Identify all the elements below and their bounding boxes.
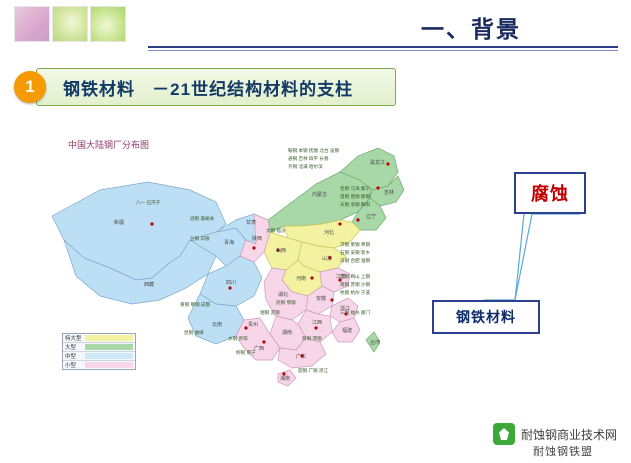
section-banner: 钢铁材料 －21世纪结构材料的支柱 1 (14, 68, 394, 106)
legend-label: 大型 (63, 343, 83, 351)
leaf-logo-icon (493, 423, 515, 445)
header-divider-secondary (148, 50, 618, 51)
banner-subtitle: －21世纪结构材料的支柱 (152, 80, 353, 99)
svg-text:陕西: 陕西 (252, 235, 262, 242)
svg-text:台湾: 台湾 (370, 339, 380, 346)
svg-text:兰钢 白银: 兰钢 白银 (190, 235, 210, 242)
svg-text:辽宁: 辽宁 (366, 213, 376, 220)
svg-text:西藏: 西藏 (144, 281, 154, 288)
legend-item: 特大型 (63, 334, 135, 343)
svg-text:广东: 广东 (296, 353, 306, 360)
china-steel-plant-map: 中国大陆钢厂分布图 (40, 128, 420, 408)
svg-text:山东: 山东 (322, 255, 332, 262)
banner-title: 钢铁材料 (63, 80, 135, 99)
svg-text:云南: 云南 (212, 321, 222, 328)
svg-text:包钢 乌海 集宁: 包钢 乌海 集宁 (340, 185, 371, 192)
footer-subtext: 耐蚀钢铁盟 (533, 443, 593, 459)
svg-text:湖南: 湖南 (282, 329, 292, 336)
legend-swatch (85, 353, 133, 359)
legend-label: 中型 (63, 352, 83, 360)
svg-text:天钢 承钢 舞阳: 天钢 承钢 舞阳 (340, 201, 371, 208)
svg-text:三钢 福州 厦门: 三钢 福州 厦门 (340, 309, 371, 316)
svg-text:吉林: 吉林 (384, 189, 394, 196)
svg-text:济钢 莱钢 青钢: 济钢 莱钢 青钢 (340, 241, 371, 248)
footer-watermark: 耐蚀钢商业技术网 (493, 423, 617, 445)
legend-swatch (85, 335, 133, 341)
header-divider (148, 46, 618, 48)
legend-swatch (85, 344, 133, 350)
legend-label: 特大型 (63, 334, 83, 342)
footer-brand: 耐蚀钢商业技术网 (521, 426, 617, 443)
svg-text:鞍钢 本钢 抚顺 北台 凌钢: 鞍钢 本钢 抚顺 北台 凌钢 (288, 147, 339, 154)
thumb-pink-flower-icon (14, 6, 50, 42)
map-legend: 特大型 大型 中型 小型 (62, 333, 136, 370)
svg-text:福建: 福建 (342, 327, 352, 334)
svg-text:内蒙古: 内蒙古 (312, 191, 327, 198)
svg-text:甘肃: 甘肃 (246, 219, 256, 226)
svg-text:山西: 山西 (276, 247, 286, 254)
legend-item: 小型 (63, 361, 135, 369)
thumb-green-leaf-1-icon (52, 6, 88, 42)
thumb-green-leaf-2-icon (90, 6, 126, 42)
svg-text:江西: 江西 (312, 319, 322, 326)
section-number-badge: 1 (14, 71, 46, 103)
svg-text:韶钢 广钢 湛江: 韶钢 广钢 湛江 (298, 367, 329, 374)
svg-text:杭钢 杭州 宁波: 杭钢 杭州 宁波 (340, 289, 371, 296)
svg-text:河南: 河南 (296, 275, 306, 282)
banner-box: 钢铁材料 －21世纪结构材料的支柱 (36, 68, 396, 106)
svg-text:石钢 安钢 新乡: 石钢 安钢 新乡 (340, 249, 371, 256)
header-thumbnails (14, 6, 126, 42)
svg-text:齐钢 北满 哈尔滨: 齐钢 北满 哈尔滨 (288, 163, 323, 170)
svg-text:新疆: 新疆 (114, 219, 124, 226)
svg-text:湘钢 涟钢: 湘钢 涟钢 (260, 309, 280, 316)
callout-corrosion: 腐蚀 (514, 172, 586, 214)
page-title: 一、背景 (421, 10, 521, 44)
svg-text:柳钢 南宁: 柳钢 南宁 (236, 349, 256, 356)
svg-text:宝钢 梅山 上钢: 宝钢 梅山 上钢 (340, 273, 371, 280)
legend-label: 小型 (63, 361, 83, 369)
legend-item: 大型 (63, 343, 135, 352)
svg-text:河北: 河北 (324, 229, 334, 236)
svg-text:太钢 临汾: 太钢 临汾 (266, 227, 286, 234)
legend-swatch (85, 362, 133, 368)
svg-text:贵州: 贵州 (248, 321, 258, 328)
svg-text:海南: 海南 (280, 375, 290, 382)
svg-text:黑龙江: 黑龙江 (370, 159, 385, 166)
banner-text: 钢铁材料 －21世纪结构材料的支柱 (63, 75, 353, 100)
svg-text:武钢 鄂钢: 武钢 鄂钢 (276, 299, 296, 306)
svg-text:酒钢 嘉峪关: 酒钢 嘉峪关 (190, 215, 215, 222)
svg-text:青海: 青海 (224, 239, 234, 246)
svg-text:四川: 四川 (226, 280, 236, 286)
svg-text:八一 石河子: 八一 石河子 (136, 199, 161, 206)
svg-text:南钢 苏钢 沙钢: 南钢 苏钢 沙钢 (340, 281, 371, 288)
svg-text:通钢 吉林 四平 长春: 通钢 吉林 四平 长春 (288, 155, 329, 162)
svg-text:水钢 贵阳: 水钢 贵阳 (228, 335, 248, 342)
legend-item: 中型 (63, 352, 135, 361)
svg-text:安徽: 安徽 (316, 295, 326, 302)
svg-text:重钢 攀钢 成都: 重钢 攀钢 成都 (180, 301, 211, 308)
svg-text:湖北: 湖北 (278, 291, 288, 298)
svg-text:新钢 萍钢: 新钢 萍钢 (302, 335, 322, 342)
svg-text:马钢 合肥 淮钢: 马钢 合肥 淮钢 (340, 257, 371, 264)
svg-text:昆钢 曲靖: 昆钢 曲靖 (184, 329, 204, 336)
svg-text:首钢 唐钢 邯钢: 首钢 唐钢 邯钢 (340, 193, 371, 200)
callout-steel-material: 钢铁材料 (432, 300, 540, 334)
